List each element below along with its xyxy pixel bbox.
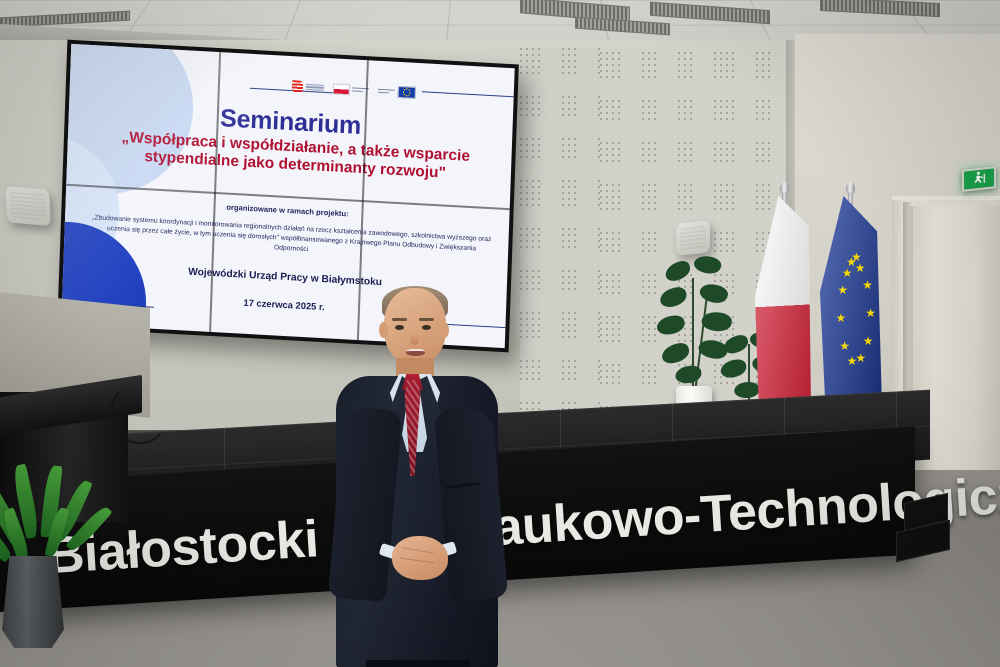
person-eyebrow <box>419 318 434 321</box>
person-ear <box>440 322 449 338</box>
person-eye <box>395 325 404 330</box>
person-eyebrow <box>392 318 407 321</box>
person-trousers <box>366 660 470 667</box>
person-nose <box>410 332 419 345</box>
conference-room-scene: Seminarium „Współpraca i współdziałanie,… <box>0 0 1000 667</box>
wall-mounted-speaker <box>5 186 51 226</box>
emergency-exit-sign <box>962 166 996 192</box>
stage-steps <box>896 476 972 570</box>
foreground-planter-pot <box>2 556 64 648</box>
speaker-person <box>322 288 518 667</box>
person-ear <box>379 322 388 338</box>
person-eye <box>422 325 431 330</box>
laptop-cable <box>110 382 170 444</box>
person-mouth <box>406 349 425 356</box>
acoustic-perforated-panel <box>520 48 600 468</box>
wall-mounted-speaker <box>676 220 710 256</box>
emergency-exit-running-person-icon <box>972 170 986 187</box>
